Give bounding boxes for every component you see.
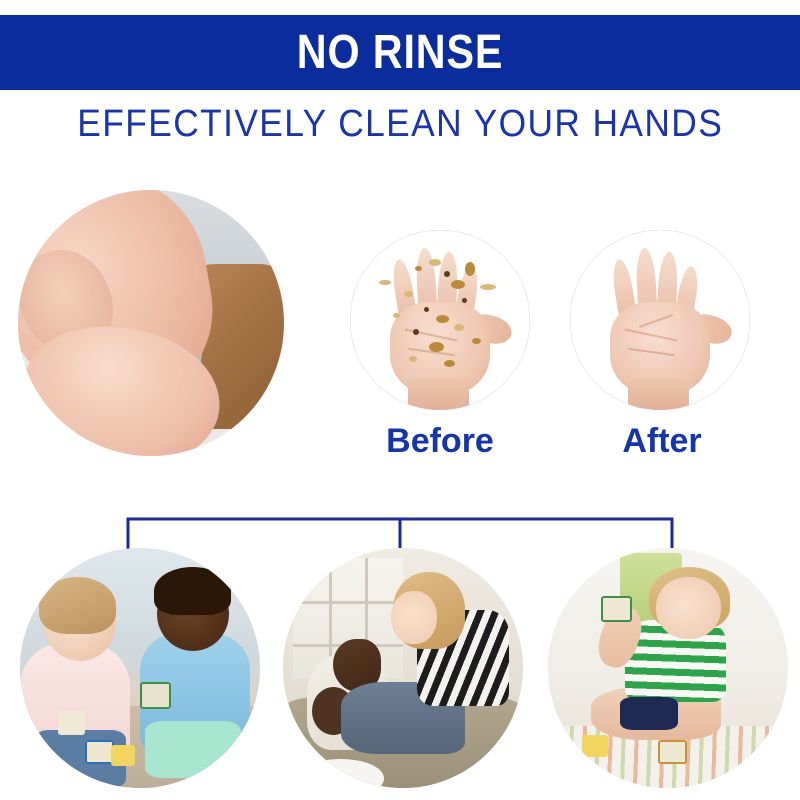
- toddler-blocks-photo: [548, 548, 788, 788]
- dirt-splash: [379, 280, 391, 285]
- before-caption: Before: [340, 422, 540, 461]
- toy-block: [140, 682, 171, 708]
- toddler-two-shorts: [145, 721, 241, 779]
- hero-scene: [18, 190, 284, 456]
- toddlers-scene: [20, 548, 260, 788]
- wrist: [408, 378, 469, 410]
- dirt-speck: [454, 324, 464, 331]
- woman-face: [391, 591, 437, 644]
- dirt-speck: [444, 360, 455, 367]
- toy-block: [601, 596, 632, 622]
- toy-block: [111, 745, 135, 767]
- banner-title: NO RINSE: [297, 29, 503, 77]
- wrist: [628, 378, 689, 410]
- toy-block: [658, 740, 687, 764]
- poster-root: NO RINSE EFFECTIVELY CLEAN YOUR HANDS: [0, 0, 800, 800]
- dirt-speck: [413, 329, 419, 335]
- before-hand-photo: [350, 230, 530, 410]
- woman-dog-scene: [283, 548, 523, 788]
- hand-dispensing-gel-photo: [18, 190, 284, 456]
- dirt-splash: [480, 284, 496, 290]
- after-hand-photo: [570, 230, 750, 410]
- toy-block: [85, 740, 114, 764]
- header-banner: NO RINSE: [0, 15, 800, 90]
- woman-with-dog-photo: [283, 548, 523, 788]
- dirt-speck: [429, 342, 444, 352]
- subtitle: EFFECTIVELY CLEAN YOUR HANDS: [0, 103, 800, 146]
- after-scene: [570, 230, 750, 410]
- dirt-speck: [436, 315, 449, 323]
- toddler-head: [656, 577, 721, 639]
- toddler-two-hair: [154, 567, 231, 615]
- side-table: [297, 759, 383, 788]
- dirt-speck: [429, 259, 441, 266]
- after-caption: After: [562, 422, 762, 461]
- window-mullion: [293, 601, 403, 604]
- toy-block: [58, 711, 84, 735]
- before-scene: [350, 230, 530, 410]
- toddler-one-hair: [39, 577, 116, 635]
- toddlers-playing-photo: [20, 548, 260, 788]
- dirt-speck: [415, 266, 422, 271]
- toy-block: [582, 735, 608, 757]
- toddler-blocks-scene: [548, 548, 788, 788]
- subtitle-text: EFFECTIVELY CLEAN YOUR HANDS: [77, 103, 723, 146]
- dirt-speck: [393, 313, 400, 318]
- toddler-shorts: [620, 697, 678, 731]
